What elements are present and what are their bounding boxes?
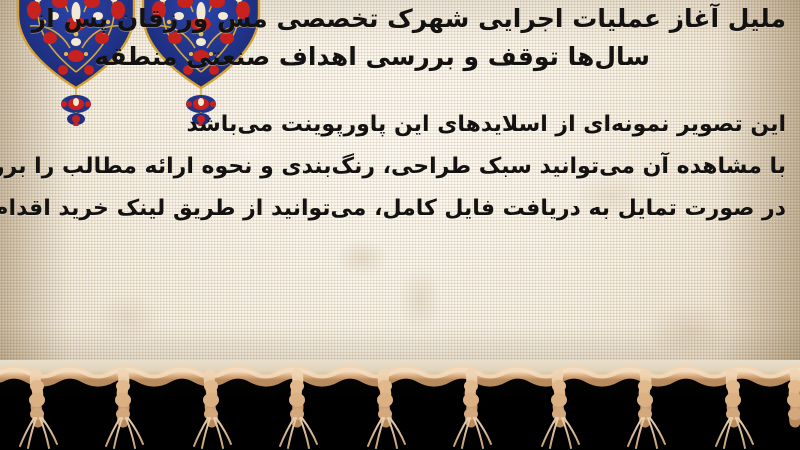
slide-body-line-1: این تصویر نمونه‌ای از اسلایدهای این پاور… xyxy=(186,112,786,137)
slide-body-line-3: در صورت تمایل به دریافت فایل کامل، می‌تو… xyxy=(0,196,786,221)
slide-body-line-2: با مشاهده آن می‌توانید سبک طراحی، رنگ‌بن… xyxy=(0,154,786,179)
carpet-fringe xyxy=(0,360,800,450)
presentation-slide: ملیل آغاز عملیات اجرایی شهرک تخصصی مس ور… xyxy=(0,0,800,450)
slide-heading-line-2: سال‌ها توقف و بررسی اهداف صنعتی منطقه xyxy=(94,42,650,71)
slide-heading-line-1: ملیل آغاز عملیات اجرایی شهرک تخصصی مس ور… xyxy=(32,4,786,33)
fringe-tassel-row xyxy=(0,360,800,450)
fringe-tassels xyxy=(20,374,800,449)
slide-text: ملیل آغاز عملیات اجرایی شهرک تخصصی مس ور… xyxy=(0,0,800,378)
